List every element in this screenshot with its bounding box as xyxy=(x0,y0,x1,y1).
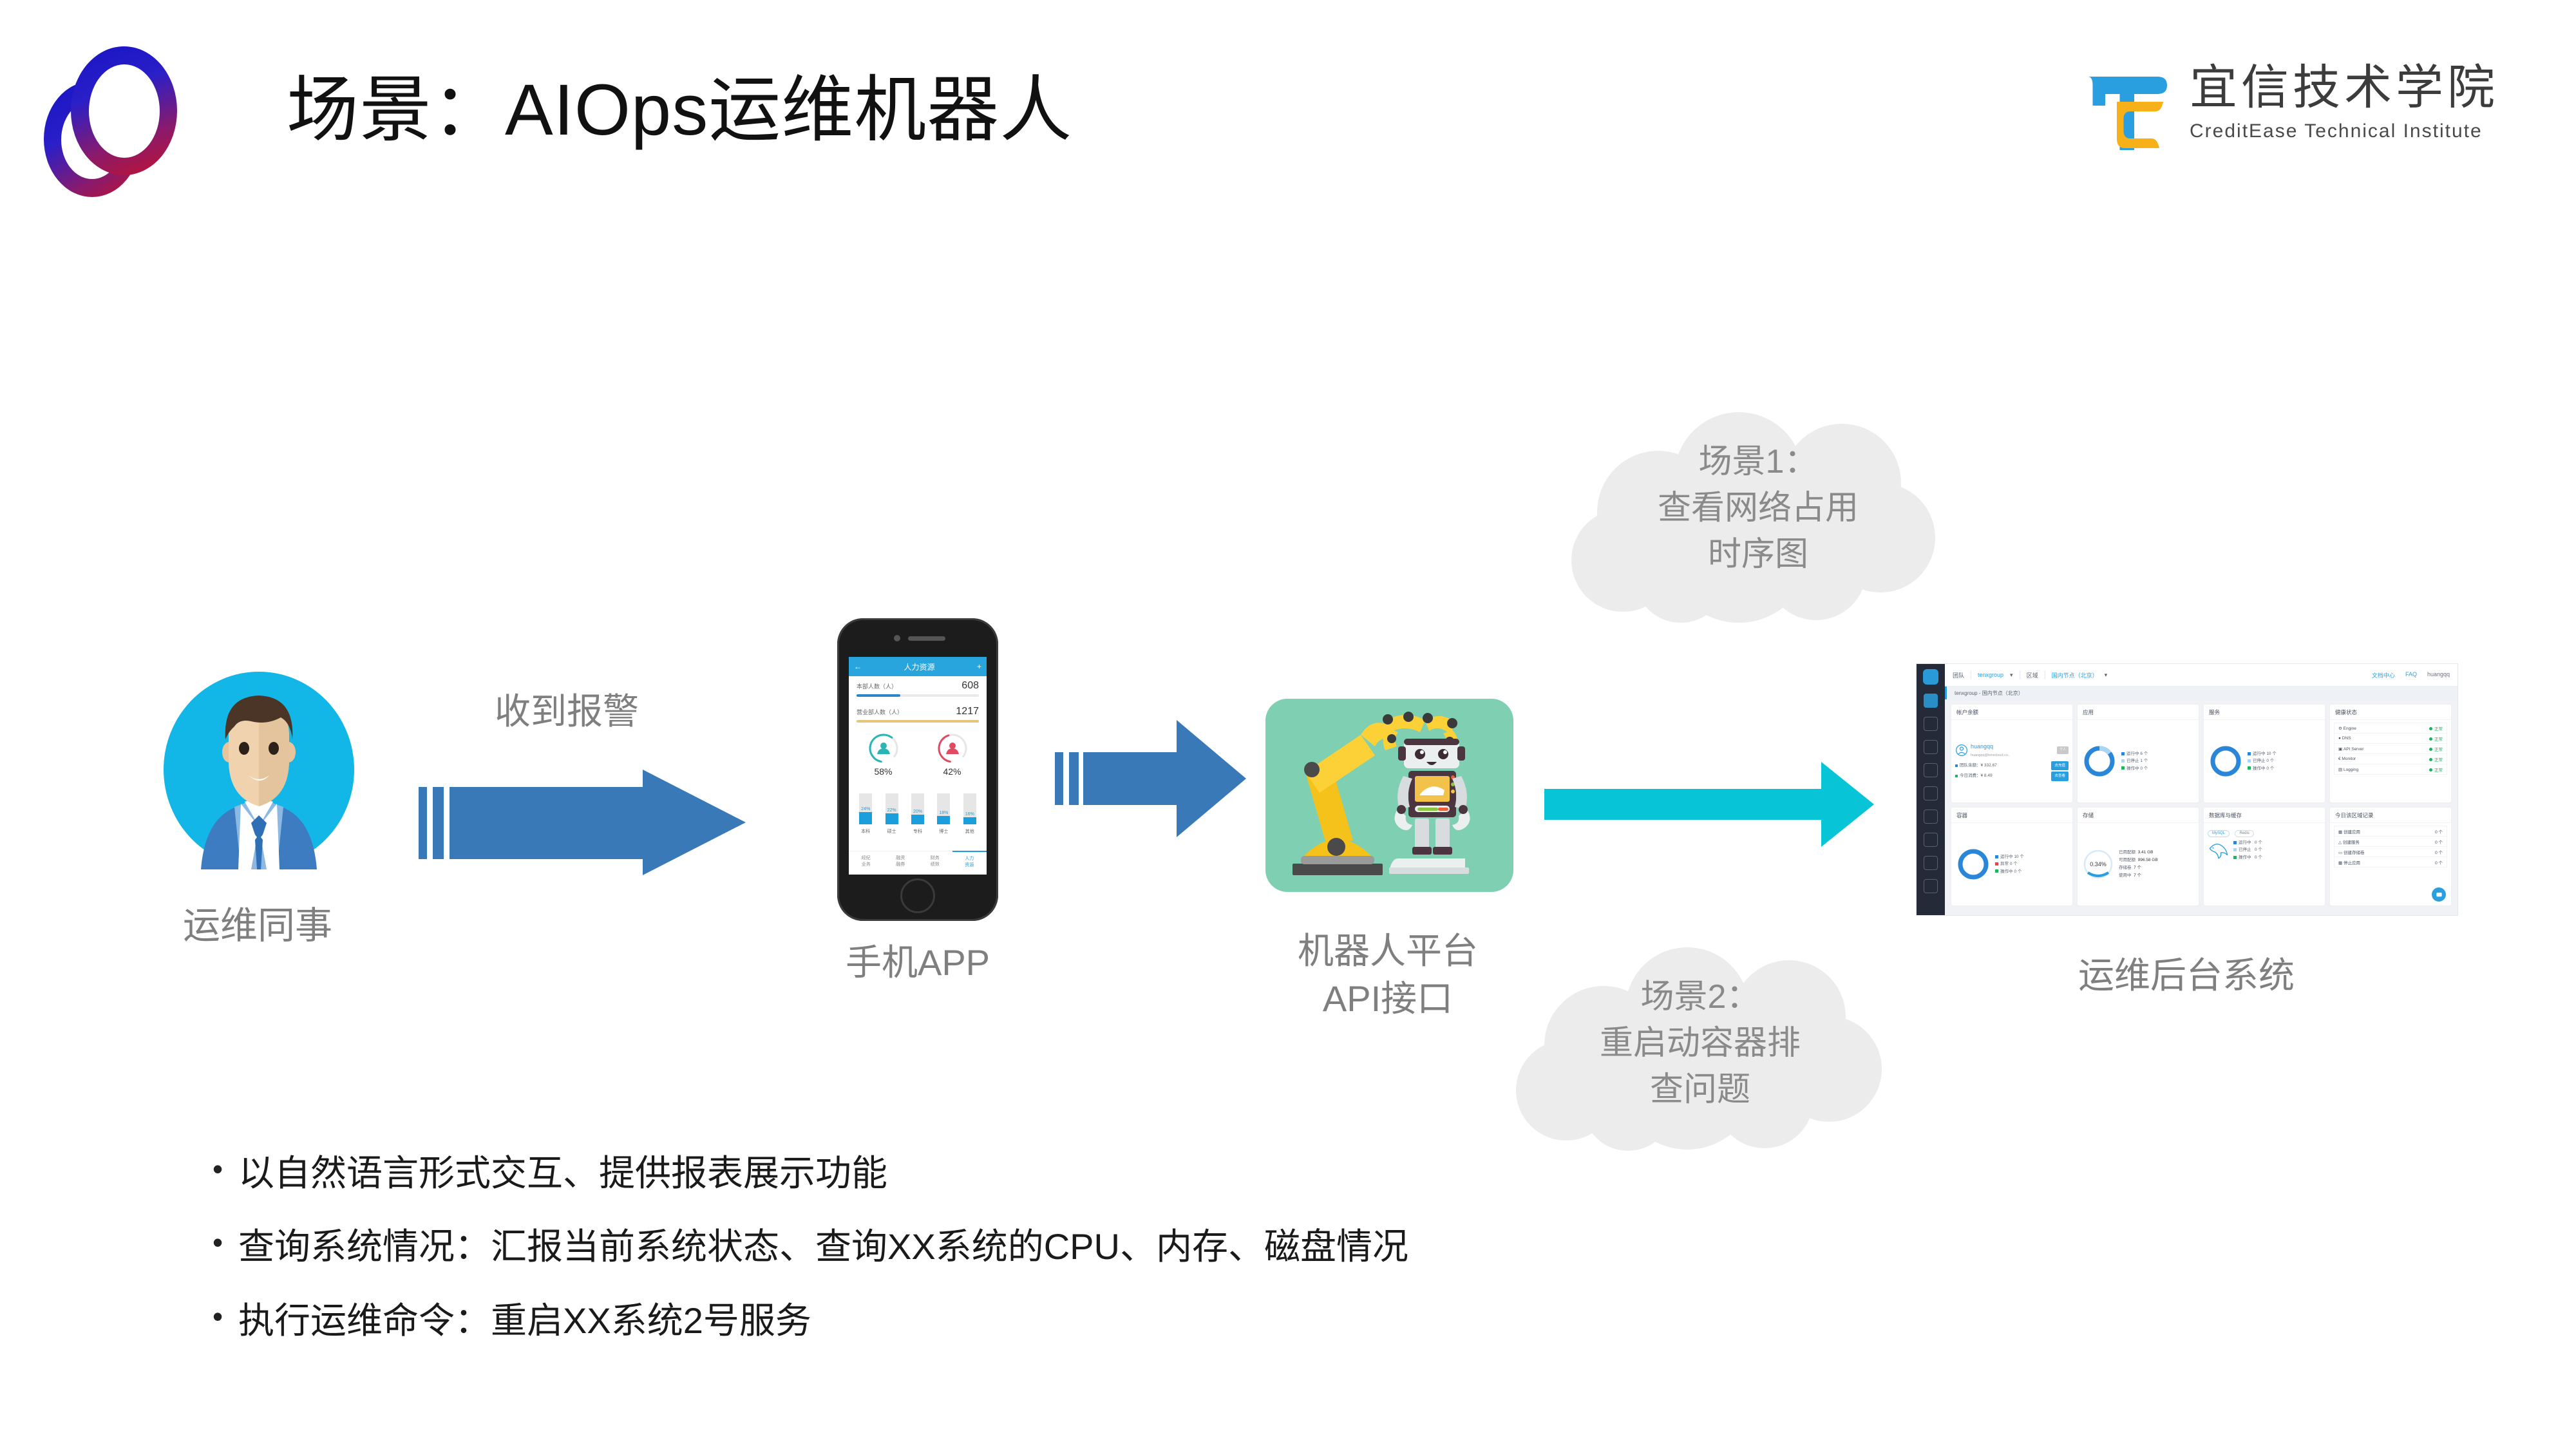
scenario-cloud-2-text: 场景2： 重启动容器排 查问题 xyxy=(1481,974,1919,1113)
dashboard-sidebar xyxy=(1917,664,1945,915)
phone-screen: ← 人力资源 + 本部人数（人） 608 营业部人数（人） 1217 xyxy=(849,657,987,875)
user-avatar-icon xyxy=(1955,744,1968,757)
flow-arrow-3 xyxy=(1544,762,1905,875)
phone-bar-pct: 16% xyxy=(965,812,974,817)
phone-tab-margin[interactable]: 融资融券 xyxy=(884,851,918,875)
phone-tab-hr[interactable]: 人力资源 xyxy=(952,851,987,875)
sidebar-item-deploy[interactable] xyxy=(1924,879,1938,893)
phone-tab-brokerage[interactable]: 经纪业务 xyxy=(849,851,884,875)
server-icon: ▣ API Server xyxy=(2338,746,2363,752)
card-account-balance: 帐户余额 huangqq huan xyxy=(1951,705,2072,802)
bullet-icon: • xyxy=(213,1153,238,1186)
services-donut-chart xyxy=(2208,743,2244,779)
tc-monogram-icon xyxy=(2076,61,2173,158)
bullet-list: • 以自然语言形式交互、提供报表展示功能 • 查询系统情况：汇报当前系统状态、查… xyxy=(213,1153,2145,1374)
dns-icon: ● DNS xyxy=(2338,736,2351,741)
dashboard-card-grid: 帐户余额 huangqq huan xyxy=(1945,699,2458,911)
phone-bar-pct: 22% xyxy=(887,808,896,813)
phone-bar-label: 专科 xyxy=(913,828,922,835)
card-title: 今日该区域记录 xyxy=(2330,808,2451,823)
card-title: 存储 xyxy=(2078,808,2199,823)
record-row: △ 创建服务 0 个 xyxy=(2334,836,2447,846)
account-tag: 个人 xyxy=(2057,746,2069,754)
card-today-records: 今日该区域记录 ▦ 创建应用 0 个 △ 创建服务 0 个 ▭ 创建存储卷 0 … xyxy=(2330,808,2451,905)
phone-stat-track xyxy=(857,694,979,697)
svg-text:0.34%: 0.34% xyxy=(2090,861,2107,867)
card-storage: 存储 0.34% 已用配额 3.41 GB 可用配额 996.58 GB 存储卷… xyxy=(2078,808,2199,905)
record-row: ▭ 创建存储卷 0 个 xyxy=(2334,846,2447,857)
bullet-text: 执行运维命令：重启XX系统2号服务 xyxy=(238,1300,811,1341)
health-row: ⚙ Engine 正常 xyxy=(2334,723,2447,733)
flow-arrow-1 xyxy=(419,782,766,866)
institute-logo: 宜信技术学院 CreditEase Technical Institute xyxy=(2076,61,2499,164)
sidebar-item-network[interactable] xyxy=(1924,763,1938,777)
user-menu[interactable]: huangqq xyxy=(2427,671,2450,679)
phone-bar-item: 24% 本科 xyxy=(858,787,873,836)
phone-bar-pct: 24% xyxy=(861,807,870,811)
docs-link[interactable]: 文档中心 xyxy=(2372,671,2395,679)
mysql-dolphin-icon xyxy=(2208,840,2230,860)
sidebar-item-apps[interactable] xyxy=(1924,717,1938,731)
phone-stat-value: 1217 xyxy=(956,706,979,717)
phone-top-bezel xyxy=(837,618,998,657)
institute-name-en: CreditEase Technical Institute xyxy=(2190,120,2499,142)
dashboard-main: 团队 tenxgroup ▾ 区域 国内节点（北京） ▾ 文档中心 FAQ hu… xyxy=(1945,664,2458,915)
phone-stat-row: 本部人数（人） 608 xyxy=(849,676,987,693)
list-item: • 执行运维命令：重启XX系统2号服务 xyxy=(213,1300,2145,1341)
back-icon[interactable]: ← xyxy=(854,662,862,671)
flow-arrow-2 xyxy=(1055,715,1248,869)
card-title: 帐户余额 xyxy=(1951,705,2072,720)
health-row: ▤ Logging 正常 xyxy=(2334,764,2447,775)
bullet-text: 查询系统情况：汇报当前系统状态、查询XX系统的CPU、内存、磁盘情况 xyxy=(238,1226,1408,1267)
account-email: huangqq@tenxcloud.co.. xyxy=(1971,752,2010,759)
card-title: 容器 xyxy=(1951,808,2072,823)
phone-bar-item: 18% 博士 xyxy=(936,787,951,836)
phone-stat-label: 营业部人数（人） xyxy=(857,708,903,716)
apps-donut-chart xyxy=(2081,743,2117,779)
phone-stat-row: 营业部人数（人） 1217 xyxy=(849,702,987,719)
breadcrumb: tenxgroup - 国内节点（北京） xyxy=(1945,687,2458,699)
card-title: 服务 xyxy=(2204,705,2325,720)
card-title: 应用 xyxy=(2078,705,2199,720)
card-services: 服务 运行中 10 个 已停止 0 个 操作中 0 个 xyxy=(2204,705,2325,802)
phone-bar-label: 博士 xyxy=(939,828,948,835)
phone-speaker-icon xyxy=(908,636,945,641)
phone-bar-label: 本科 xyxy=(861,828,870,835)
health-row: ▣ API Server 正常 xyxy=(2334,743,2447,753)
card-health-status: 健康状态 ⚙ Engine 正常 ● DNS 正常 ▣ API Server 正… xyxy=(2330,705,2451,802)
team-label: 团队 xyxy=(1953,671,1964,679)
team-select[interactable]: tenxgroup xyxy=(1978,672,2003,678)
phone-bar-chart: 24% 本科 22% 硕士 20% 专科 xyxy=(849,787,987,836)
persona-label: 运维同事 xyxy=(129,895,386,949)
sidebar-item-services[interactable] xyxy=(1924,740,1938,754)
card-database-cache: 数据库与缓存 MySQL Redis 运行中 xyxy=(2204,808,2325,905)
scenario-cloud-1-text: 场景1： 查看网络占用 时序图 xyxy=(1546,439,1971,578)
robot-label-line2: API接口 xyxy=(1323,978,1453,1019)
health-row: ● DNS 正常 xyxy=(2334,733,2447,743)
log-icon: ▤ Logging xyxy=(2338,767,2358,772)
phone-stat-track xyxy=(857,720,979,723)
sidebar-item-database[interactable] xyxy=(1924,810,1938,824)
creditease-ring-logo-icon xyxy=(39,45,232,174)
engine-icon: ⚙ Engine xyxy=(2338,726,2356,731)
phone-bar-label: 硕士 xyxy=(887,828,896,835)
chevron-down-icon[interactable]: ▾ xyxy=(2010,672,2013,679)
phone-app-title: 人力资源 xyxy=(904,661,934,672)
sidebar-item-storage[interactable] xyxy=(1924,786,1938,800)
ops-dashboard-screenshot: 团队 tenxgroup ▾ 区域 国内节点（北京） ▾ 文档中心 FAQ hu… xyxy=(1916,663,2458,916)
sidebar-item-account[interactable] xyxy=(1924,856,1938,870)
view-bill-button[interactable]: 去查看 xyxy=(2051,772,2069,781)
phone-bar-pct: 20% xyxy=(913,810,922,814)
dashboard-topbar: 团队 tenxgroup ▾ 区域 国内节点（北京） ▾ 文档中心 FAQ hu… xyxy=(1945,664,2458,687)
recharge-button[interactable]: 去充值 xyxy=(2051,761,2069,770)
today-spend-value: ¥ 8.49 xyxy=(1981,772,1993,780)
sidebar-item-overview[interactable] xyxy=(1924,694,1938,708)
card-containers: 容器 运行中 10 个 异常 0 个 操作中 0 个 xyxy=(1951,808,2072,905)
plus-icon[interactable]: + xyxy=(977,662,981,671)
scenario-cloud-2: 场景2： 重启动容器排 查问题 xyxy=(1481,937,1919,1156)
db-tab-redis[interactable]: Redis xyxy=(2235,830,2253,837)
institute-name-cn: 宜信技术学院 xyxy=(2190,64,2499,111)
region-label: 区域 xyxy=(2027,671,2038,679)
phone-tab-finance[interactable]: 财务绩效 xyxy=(918,851,952,875)
faq-link[interactable]: FAQ xyxy=(2405,671,2417,679)
record-row: ▦ 停止应用 0 个 xyxy=(2334,857,2447,867)
arrow1-label: 收到报警 xyxy=(399,683,734,735)
chat-support-button[interactable] xyxy=(2432,887,2446,902)
team-balance-value: ¥ 332.67 xyxy=(1981,762,1997,770)
phone-gauge-value: 42% xyxy=(931,766,974,777)
phone-app-bar: ← 人力资源 + xyxy=(849,657,987,676)
sidebar-item-monitor[interactable] xyxy=(1924,833,1938,847)
bullet-icon: • xyxy=(213,1300,238,1333)
avatar xyxy=(162,670,355,869)
phone-bar-item: 20% 专科 xyxy=(910,787,925,836)
phone-stat-value: 608 xyxy=(961,680,979,692)
slide-root: 场景：AIOps运维机器人 宜信技术学院 CreditEase Technica… xyxy=(0,0,2576,1449)
today-spend-label: 今日消费： xyxy=(1960,772,1981,780)
bullet-text: 以自然语言形式交互、提供报表展示功能 xyxy=(238,1153,887,1194)
card-title: 数据库与缓存 xyxy=(2204,808,2325,823)
phone-bar-item: 16% 其他 xyxy=(962,787,978,836)
phone-gauge-female: 42% xyxy=(931,732,974,777)
card-applications: 应用 运行中 6 个 已停止 1 个 操作中 xyxy=(2078,705,2199,802)
health-row: € Monitor 正常 xyxy=(2334,753,2447,764)
phone-gauge-value: 58% xyxy=(862,766,905,777)
phone-tabbar: 经纪业务 融资融券 财务绩效 人力资源 xyxy=(849,851,987,875)
scenario-cloud-1: 场景1： 查看网络占用 时序图 xyxy=(1546,399,1971,625)
list-item: • 以自然语言形式交互、提供报表展示功能 xyxy=(213,1153,2145,1194)
phone-bar-pct: 18% xyxy=(939,811,948,815)
card-title: 健康状态 xyxy=(2330,705,2451,720)
phone-label: 手机APP xyxy=(757,934,1079,986)
chevron-down-icon[interactable]: ▾ xyxy=(2105,672,2108,679)
team-balance-label: 团队余额： xyxy=(1960,762,1981,770)
page-title: 场景：AIOps运维机器人 xyxy=(287,52,1072,156)
dashboard-label: 运维后台系统 xyxy=(1961,947,2412,999)
bullet-icon: • xyxy=(213,1226,238,1259)
storage-ring-chart: 0.34% xyxy=(2081,848,2115,881)
db-tab-mysql[interactable]: MySQL xyxy=(2208,830,2230,837)
phone-gauge-male: 58% xyxy=(862,732,905,777)
phone-gauge-group: 58% 42% xyxy=(849,732,987,777)
robot-label-line1: 机器人平台 xyxy=(1298,931,1478,971)
phone-camera-icon xyxy=(894,635,900,641)
robot-platform-tile xyxy=(1265,699,1513,892)
phone-stat-label: 本部人数（人） xyxy=(857,682,897,690)
containers-donut-chart xyxy=(1955,846,1991,882)
phone-mockup: ← 人力资源 + 本部人数（人） 608 营业部人数（人） 1217 xyxy=(837,618,998,921)
dashboard-logo-icon xyxy=(1923,669,1938,685)
region-select[interactable]: 国内节点（北京） xyxy=(2052,671,2098,679)
phone-bar-label: 其他 xyxy=(965,828,974,835)
record-row: ▦ 创建应用 0 个 xyxy=(2334,826,2447,836)
list-item: • 查询系统情况：汇报当前系统状态、查询XX系统的CPU、内存、磁盘情况 xyxy=(213,1226,2145,1267)
phone-bar-item: 22% 硕士 xyxy=(884,787,900,836)
phone-home-button[interactable] xyxy=(900,878,935,913)
account-user: huangqq xyxy=(1971,741,2010,752)
monitor-icon: € Monitor xyxy=(2338,757,2356,761)
